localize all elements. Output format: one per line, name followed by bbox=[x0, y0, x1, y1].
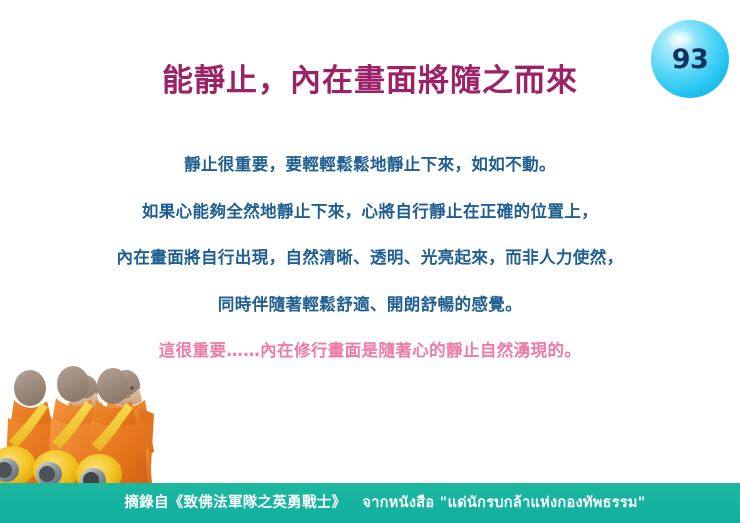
monks-illustration-icon bbox=[0, 344, 186, 496]
slide-title: 能靜止，內在畫面將隨之而來 bbox=[0, 64, 740, 100]
footer-chinese-text: 摘錄自《致佛法軍隊之英勇戰士》 bbox=[124, 495, 346, 511]
body-line-4: 同時伴隨著輕鬆舒適、開朗舒暢的感覺。 bbox=[0, 297, 740, 314]
footer-source-bar: 摘錄自《致佛法軍隊之英勇戰士》 จากหนังสือ "แด่นักรบกล้า… bbox=[0, 483, 740, 523]
footer-source-text: 摘錄自《致佛法軍隊之英勇戰士》 จากหนังสือ "แด่นักรบกล้า… bbox=[94, 496, 645, 511]
monks-photo bbox=[0, 344, 186, 496]
page-number-label: 93 bbox=[672, 46, 709, 73]
body-line-2: 如果心能夠全然地靜止下來，心將自行靜止在正確的位置上， bbox=[0, 204, 740, 221]
body-text-block: 靜止很重要，要輕輕鬆鬆地靜止下來，如如不動。 如果心能夠全然地靜止下來，心將自行… bbox=[0, 157, 740, 360]
footer-thai-text: จากหนังสือ "แด่นักรบกล้าแห่งกองทัพธรรม" bbox=[362, 495, 645, 511]
slide-canvas: 93 能靜止，內在畫面將隨之而來 靜止很重要，要輕輕鬆鬆地靜止下來，如如不動。 … bbox=[0, 0, 740, 523]
body-line-3: 內在畫面將自行出現，自然清晰、透明、光亮起來，而非人力使然， bbox=[0, 250, 740, 267]
body-line-1: 靜止很重要，要輕輕鬆鬆地靜止下來，如如不動。 bbox=[0, 157, 740, 174]
